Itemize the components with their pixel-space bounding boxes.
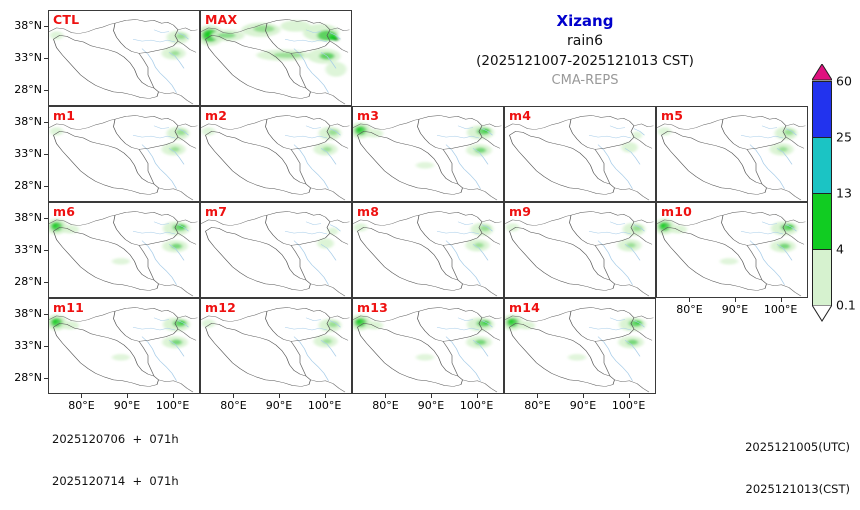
- footer-left-line1: 2025120706 + 071h: [52, 432, 179, 446]
- lat-tick-label: 38°N: [0, 211, 42, 224]
- panel-label: m5: [661, 108, 683, 123]
- colorbar-tick-label: 0.1: [836, 298, 856, 313]
- panel-label: m12: [205, 300, 236, 315]
- panel-label: m8: [357, 204, 379, 219]
- lat-tick-label: 28°N: [0, 275, 42, 288]
- page-title: Xizang: [430, 12, 740, 31]
- colorbar-under-arrow: [812, 305, 832, 322]
- lon-tick-mark: [233, 394, 234, 398]
- model-name: CMA-REPS: [430, 71, 740, 90]
- lon-tick-mark: [81, 394, 82, 398]
- lat-tick-mark: [44, 314, 48, 315]
- panel-label: m1: [53, 108, 75, 123]
- footer-right-line2: 2025121013(CST): [745, 482, 850, 496]
- colorbar-tick-label: 4: [836, 242, 844, 257]
- lat-tick-label: 33°N: [0, 147, 42, 160]
- map-panel-m11[interactable]: m11: [48, 298, 200, 394]
- panel-label: m13: [357, 300, 388, 315]
- lat-tick-mark: [44, 154, 48, 155]
- lon-tick-mark: [279, 394, 280, 398]
- footer-valid-times: 2025121005(UTC) 2025121013(CST): [745, 412, 850, 510]
- lat-tick-label: 38°N: [0, 19, 42, 32]
- map-panel-m3[interactable]: m3: [352, 106, 504, 202]
- lon-tick-label: 100°E: [606, 399, 652, 412]
- panel-label: m9: [509, 204, 531, 219]
- lat-tick-mark: [44, 90, 48, 91]
- lon-tick-label: 100°E: [758, 303, 804, 316]
- colorbar-segment: [812, 81, 832, 137]
- colorbar-tick-label: 60: [836, 74, 852, 89]
- panel-label: m2: [205, 108, 227, 123]
- lon-tick-mark: [689, 298, 690, 302]
- lon-tick-mark: [127, 394, 128, 398]
- lon-tick-label: 90°E: [712, 303, 758, 316]
- lon-tick-mark: [735, 298, 736, 302]
- lon-tick-label: 80°E: [210, 399, 256, 412]
- panel-label: m11: [53, 300, 84, 315]
- lat-tick-label: 33°N: [0, 51, 42, 64]
- colorbar-segment: [812, 249, 832, 305]
- lon-tick-label: 80°E: [514, 399, 560, 412]
- footer-init-times: 2025120706 + 071h 2025120714 + 071h: [52, 404, 179, 502]
- panel-label: m10: [661, 204, 692, 219]
- lon-tick-mark: [781, 298, 782, 302]
- panel-label: CTL: [53, 12, 79, 27]
- lon-tick-mark: [477, 394, 478, 398]
- lon-tick-label: 80°E: [362, 399, 408, 412]
- map-panel-m5[interactable]: m5: [656, 106, 808, 202]
- colorbar-segment: [812, 137, 832, 193]
- title-block: Xizang rain6 (2025121007-2025121013 CST)…: [430, 12, 740, 90]
- colorbar-tick-label: 25: [836, 130, 852, 145]
- lat-tick-label: 38°N: [0, 115, 42, 128]
- map-panel-m8[interactable]: m8: [352, 202, 504, 298]
- panel-label: m3: [357, 108, 379, 123]
- map-panel-max[interactable]: MAX: [200, 10, 352, 106]
- lon-tick-label: 90°E: [408, 399, 454, 412]
- lat-tick-mark: [44, 378, 48, 379]
- lon-tick-mark: [173, 394, 174, 398]
- map-panel-m2[interactable]: m2: [200, 106, 352, 202]
- lat-tick-mark: [44, 218, 48, 219]
- colorbar-tick-label: 13: [836, 186, 852, 201]
- lat-tick-mark: [44, 122, 48, 123]
- lon-tick-mark: [431, 394, 432, 398]
- forecast-period: (2025121007-2025121013 CST): [430, 51, 740, 71]
- panel-label: m4: [509, 108, 531, 123]
- map-panel-ctl[interactable]: CTL: [48, 10, 200, 106]
- lat-tick-mark: [44, 186, 48, 187]
- colorbar-over-arrow: [812, 64, 832, 81]
- lat-tick-mark: [44, 26, 48, 27]
- lat-tick-mark: [44, 282, 48, 283]
- map-panel-m7[interactable]: m7: [200, 202, 352, 298]
- lon-tick-label: 80°E: [666, 303, 712, 316]
- lon-tick-mark: [537, 394, 538, 398]
- colorbar: 60251340.1: [812, 64, 832, 322]
- panel-label: m6: [53, 204, 75, 219]
- lat-tick-label: 33°N: [0, 243, 42, 256]
- map-panel-m13[interactable]: m13: [352, 298, 504, 394]
- lat-tick-mark: [44, 250, 48, 251]
- lon-tick-mark: [629, 394, 630, 398]
- lon-tick-label: 100°E: [302, 399, 348, 412]
- panel-label: m14: [509, 300, 540, 315]
- lat-tick-mark: [44, 346, 48, 347]
- lon-tick-label: 100°E: [454, 399, 500, 412]
- lon-tick-label: 90°E: [256, 399, 302, 412]
- map-panel-m6[interactable]: m6: [48, 202, 200, 298]
- map-panel-m1[interactable]: m1: [48, 106, 200, 202]
- map-panel-m12[interactable]: m12: [200, 298, 352, 394]
- map-panel-m10[interactable]: m10: [656, 202, 808, 298]
- lon-tick-mark: [583, 394, 584, 398]
- lon-tick-mark: [385, 394, 386, 398]
- panel-label: m7: [205, 204, 227, 219]
- lat-tick-label: 33°N: [0, 339, 42, 352]
- map-panel-m14[interactable]: m14: [504, 298, 656, 394]
- panel-label: MAX: [205, 12, 237, 27]
- colorbar-segment: [812, 193, 832, 249]
- variable-name: rain6: [430, 31, 740, 51]
- lon-tick-label: 90°E: [560, 399, 606, 412]
- lon-tick-mark: [325, 394, 326, 398]
- lat-tick-mark: [44, 58, 48, 59]
- map-panel-m4[interactable]: m4: [504, 106, 656, 202]
- lat-tick-label: 28°N: [0, 179, 42, 192]
- footer-right-line1: 2025121005(UTC): [745, 440, 850, 454]
- footer-left-line2: 2025120714 + 071h: [52, 474, 179, 488]
- lat-tick-label: 28°N: [0, 371, 42, 384]
- lat-tick-label: 28°N: [0, 83, 42, 96]
- lat-tick-label: 38°N: [0, 307, 42, 320]
- map-panel-m9[interactable]: m9: [504, 202, 656, 298]
